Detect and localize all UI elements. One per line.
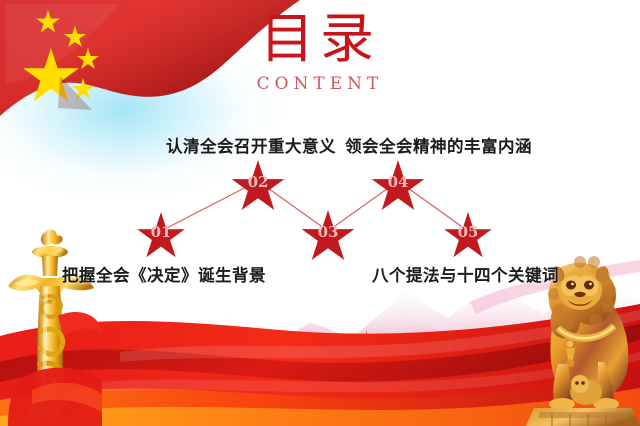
- page-subtitle: CONTENT: [0, 74, 640, 94]
- agenda-label-01[interactable]: 把握全会《决定》诞生背景: [62, 262, 266, 286]
- slide-title-block: 目录 CONTENT: [0, 12, 640, 94]
- golden-huabiao-column: [2, 228, 102, 426]
- agenda-label-05[interactable]: 八个提法与十四个关键词: [372, 262, 559, 286]
- presentation-slide: 目录 CONTENT 01 02: [0, 0, 640, 426]
- page-title: 目录: [0, 12, 640, 66]
- agenda-label-02[interactable]: 认清全会召开重大意义: [166, 133, 336, 157]
- agenda-label-04[interactable]: 领会全会精神的丰富内涵: [345, 133, 532, 157]
